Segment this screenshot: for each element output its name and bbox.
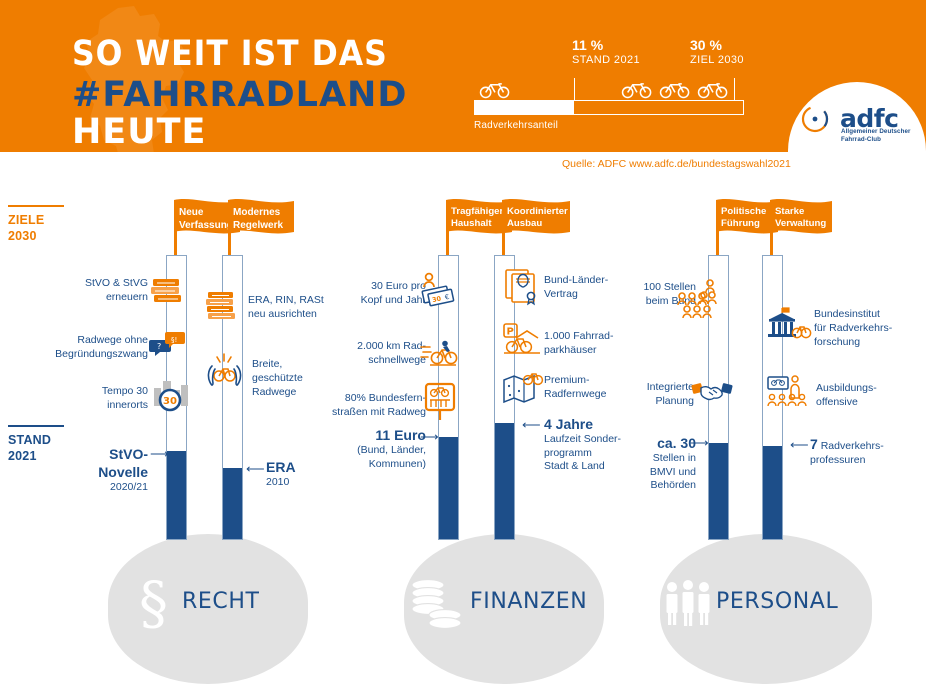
axis-label-goals: ZIELE 2030: [8, 205, 82, 244]
progress-tube-fill: [167, 451, 186, 539]
svg-text:?: ?: [157, 342, 161, 351]
bike-share-progress-fill: [475, 101, 574, 114]
progress-tube-fill: [763, 446, 782, 539]
progress-tube-fill: [223, 468, 242, 539]
status-arrow-icon: ⟶: [420, 430, 439, 443]
title-hashtag: #FAHRRADLAND: [72, 75, 407, 115]
bicycle-icon: [620, 78, 654, 100]
banknotes-person-icon: 30 €: [420, 272, 456, 306]
meter-tick-current: [574, 78, 575, 100]
title-suffix: HEUTE: [72, 112, 206, 152]
flag-line-1: Starke: [775, 206, 833, 218]
svg-text:P: P: [507, 327, 514, 338]
goal-label-era-rin-rast: ERA, RIN, RASt neu ausrichten: [248, 294, 352, 322]
meter-target-marker: 30 % ZIEL 2030: [690, 38, 744, 68]
people-group-icon: [676, 278, 720, 326]
bike-parking-garage-icon: P: [502, 322, 542, 358]
status-value-ca-30-stellen: ca. 30 Stellen in BMVI und Behörden: [608, 434, 696, 493]
axis-rule-status: [8, 425, 64, 427]
flag-line-2: Verwaltung: [775, 218, 833, 230]
section-label-recht: RECHT: [182, 589, 260, 614]
contract-seal-icon: [504, 268, 538, 306]
status-arrow-icon: ⟶: [690, 436, 709, 449]
flag-line-2: Regelwerk: [233, 219, 293, 232]
status-arrow-icon: ⟶: [150, 447, 169, 460]
progress-tube-fill: [709, 443, 728, 539]
flag-line-2: Ausbau: [507, 218, 569, 230]
meter-target-pct: 30 %: [690, 38, 744, 53]
status-arrow-icon: ⟵: [790, 438, 809, 451]
goal-label-bundesinstitut-radverkehrsforschung: Bundesinstitut für Radverkehrs- forschun…: [814, 308, 914, 350]
svg-text:30: 30: [163, 396, 177, 407]
infographic-root: SO WEIT IST DAS #FAHRRADLAND HEUTE 11 % …: [0, 0, 926, 655]
status-value-11-euro: 11 Euro (Bund, Länder, Kommunen): [326, 426, 426, 471]
bicycle-icon: [658, 78, 692, 100]
goal-label-30-euro: 30 Euro pro Kopf und Jahr: [342, 280, 426, 308]
goal-label-premium-radfernwege: Premium- Radfernwege: [544, 374, 630, 402]
institute-bike-icon: [764, 306, 810, 344]
speech-bubbles-icon: ? §!: [150, 330, 186, 358]
header-banner: SO WEIT IST DAS #FAHRRADLAND HEUTE 11 % …: [0, 0, 926, 152]
goal-label-radwege-ohne-begruendungszwang: Radwege ohne Begründungszwang: [38, 334, 148, 362]
fast-cyclist-icon: [420, 338, 458, 368]
goal-label-breite-geschuetzte-radwege: Breite, geschützte Radwege: [252, 358, 332, 400]
page-title: SO WEIT IST DAS #FAHRRADLAND HEUTE: [72, 36, 492, 150]
section-label-personal: PERSONAL: [716, 589, 838, 614]
meter-current-year: STAND 2021: [572, 53, 640, 67]
bike-share-meter: 11 % STAND 2021 30 % ZIEL 2030: [474, 38, 744, 90]
training-people-icon: [766, 375, 812, 409]
flag-label-starke-verwaltung: Starke Verwaltung: [775, 206, 833, 231]
title-line-2: #FAHRRADLAND HEUTE: [72, 77, 492, 151]
book-stack-icon: [151, 277, 183, 305]
map-bike-icon: [502, 372, 542, 404]
title-line-1: SO WEIT IST DAS: [72, 36, 492, 73]
axis-goals-line1: ZIELE: [8, 213, 82, 229]
bicycle-icon: [478, 78, 512, 100]
adfc-subline-2: Fahrrad-Club: [841, 136, 911, 144]
meter-tick-target: [734, 78, 735, 100]
goal-label-integrierte-planung: Integrierte Planung: [620, 381, 694, 409]
adfc-circle-icon: [800, 104, 830, 134]
flag-label-modernes-regelwerk: Modernes Regelwerk: [233, 206, 293, 232]
paragraph-icon: §: [137, 575, 173, 633]
goal-label-1000-fahrradparkhaeuser: 1.000 Fahrrad- parkhäuser: [544, 330, 634, 358]
handshake-icon: [692, 378, 732, 404]
people-icon: [663, 579, 715, 631]
goal-label-80-prozent-bundesfernstrassen: 80% Bundesfern- straßen mit Radweg: [324, 392, 426, 420]
flag-line-1: Koordinierter: [507, 206, 569, 218]
svg-text:§: §: [139, 569, 168, 637]
meter-current-pct: 11 %: [572, 38, 640, 53]
goal-label-ausbildungsoffensive: Ausbildungs- offensive: [816, 382, 906, 410]
goal-label-tempo-30: Tempo 30 innerorts: [70, 385, 148, 413]
bike-share-progressbar: [474, 100, 744, 115]
goal-label-2000km-radschnellwege: 2.000 km Rad- schnellwege: [338, 340, 426, 368]
coins-icon: [408, 577, 466, 633]
status-value-stvo-novelle: StVO- Novelle 2020/21: [58, 445, 148, 495]
status-arrow-icon: ⟵: [246, 462, 265, 475]
flag-line-1: Modernes: [233, 206, 293, 219]
meter-current-marker: 11 % STAND 2021: [572, 38, 640, 68]
flag-label-koordinierter-ausbau: Koordinierter Ausbau: [507, 206, 569, 231]
svg-text:§!: §!: [171, 336, 177, 344]
section-label-finanzen: FINANZEN: [470, 589, 587, 614]
source-note: Quelle: ADFC www.adfc.de/bundestagswahl2…: [562, 158, 791, 170]
speed-sign-30-icon: 30: [152, 376, 190, 412]
progress-tube-fill: [439, 437, 458, 539]
bike-roadsign-icon: [424, 382, 456, 422]
goal-label-stvo-stvg: StVO & StVG erneuern: [60, 277, 148, 305]
bicycle-icon: [696, 78, 730, 100]
meter-target-year: ZIEL 2030: [690, 53, 744, 67]
meter-caption: Radverkehrsanteil: [474, 120, 558, 131]
book-stack-icon: [205, 290, 237, 322]
axis-goals-line2: 2030: [8, 229, 82, 245]
axis-rule-goals: [8, 205, 64, 207]
status-arrow-icon: ⟵: [522, 418, 541, 431]
adfc-subline-1: Allgemeiner Deutscher: [841, 128, 911, 136]
adfc-subline: Allgemeiner Deutscher Fahrrad-Club: [841, 128, 911, 145]
progress-tube-fill: [495, 423, 514, 539]
protecting-hands-bike-icon: [204, 352, 244, 388]
status-value-7-professuren: 7 Radverkehrs- professuren: [810, 435, 914, 467]
